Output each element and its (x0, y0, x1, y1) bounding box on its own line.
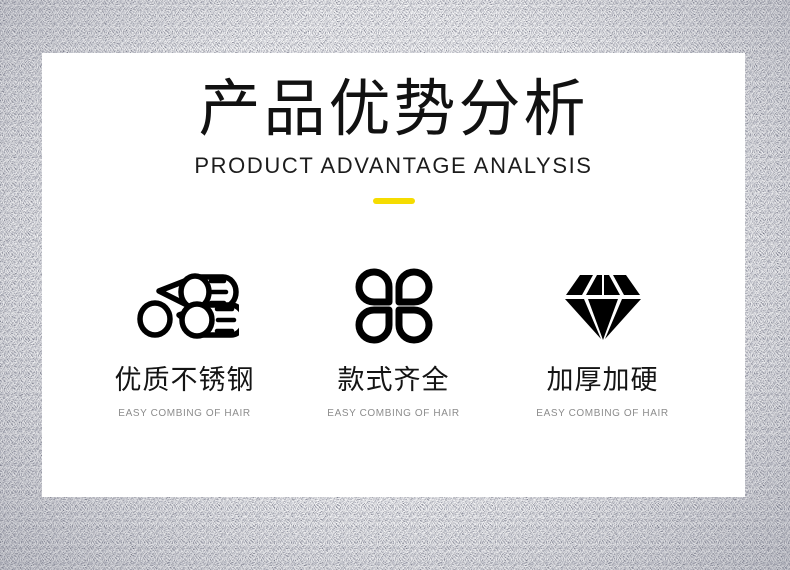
page-title: 产品优势分析 (42, 53, 745, 143)
icon-box (560, 265, 646, 347)
feature-title: 款式齐全 (338, 347, 450, 396)
icon-box (131, 265, 239, 347)
feature-subtitle: EASY COMBING OF HAIR (118, 396, 250, 420)
diamond-icon (560, 268, 646, 344)
title-divider (373, 198, 415, 204)
stacked-steel-pipes-icon (131, 267, 239, 345)
content-card: 产品优势分析 PRODUCT ADVANTAGE ANALYSIS (42, 53, 745, 497)
feature-item-steel: 优质不锈钢 EASY COMBING OF HAIR (80, 265, 289, 420)
icon-box (353, 265, 435, 347)
page-subtitle: PRODUCT ADVANTAGE ANALYSIS (42, 143, 745, 178)
poster-header: 产品优势分析 PRODUCT ADVANTAGE ANALYSIS (42, 53, 745, 204)
divider-wrap (42, 178, 745, 204)
feature-subtitle: EASY COMBING OF HAIR (327, 396, 459, 420)
feature-title: 优质不锈钢 (115, 347, 255, 396)
four-petal-clover-grid-icon (353, 266, 435, 346)
feature-title: 加厚加硬 (547, 347, 659, 396)
feature-item-styles: 款式齐全 EASY COMBING OF HAIR (289, 265, 498, 420)
product-advantage-poster: 产品优势分析 PRODUCT ADVANTAGE ANALYSIS (0, 0, 790, 570)
feature-item-hardness: 加厚加硬 EASY COMBING OF HAIR (498, 265, 707, 420)
feature-subtitle: EASY COMBING OF HAIR (536, 396, 668, 420)
feature-list: 优质不锈钢 EASY COMBING OF HAIR (42, 265, 745, 420)
